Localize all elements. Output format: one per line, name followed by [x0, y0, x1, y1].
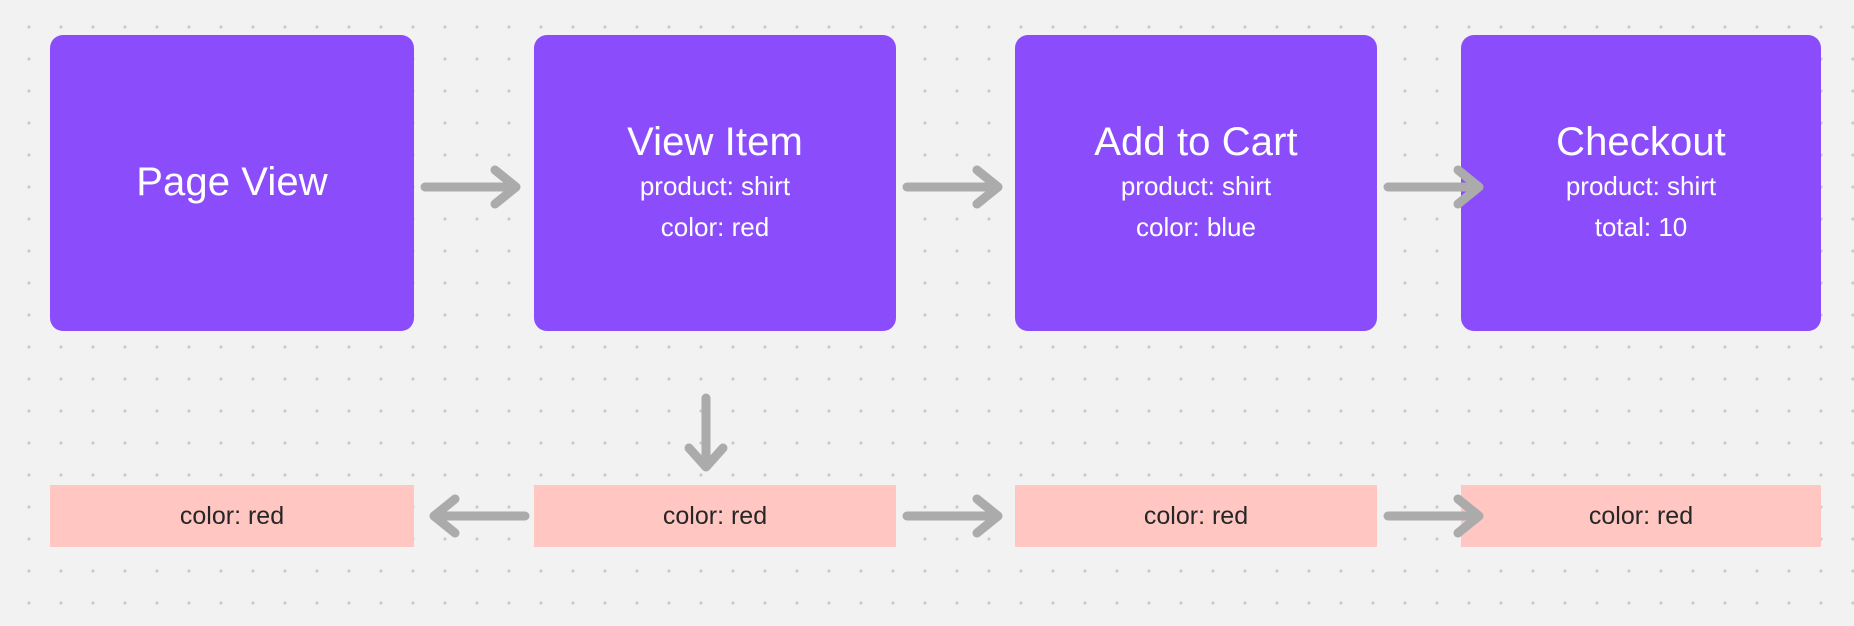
- property-node-label: color: red: [1144, 504, 1248, 529]
- event-node-property: color: blue: [1136, 207, 1256, 248]
- event-node-title: Add to Cart: [1094, 119, 1297, 166]
- event-node-property: product: shirt: [640, 166, 790, 207]
- property-node-label: color: red: [180, 504, 284, 529]
- arrow-right-icon: [903, 494, 1011, 538]
- event-node-view-item[interactable]: View Item product: shirt color: red: [534, 35, 896, 331]
- event-node-property: total: 10: [1595, 207, 1688, 248]
- event-node-property: product: shirt: [1566, 166, 1716, 207]
- event-node-checkout[interactable]: Checkout product: shirt total: 10: [1461, 35, 1821, 331]
- event-node-title: Page View: [136, 159, 327, 206]
- event-node-add-to-cart[interactable]: Add to Cart product: shirt color: blue: [1015, 35, 1377, 331]
- arrow-right-icon: [421, 165, 529, 209]
- arrow-right-icon: [903, 165, 1011, 209]
- property-node[interactable]: color: red: [50, 485, 414, 547]
- event-node-property: color: red: [661, 207, 769, 248]
- property-node-label: color: red: [663, 504, 767, 529]
- property-node[interactable]: color: red: [534, 485, 896, 547]
- property-node-label: color: red: [1589, 504, 1693, 529]
- event-node-title: Checkout: [1556, 119, 1726, 166]
- event-node-page-view[interactable]: Page View: [50, 35, 414, 331]
- property-node[interactable]: color: red: [1461, 485, 1821, 547]
- event-node-title: View Item: [627, 119, 803, 166]
- arrow-down-icon: [684, 394, 728, 478]
- event-node-property: product: shirt: [1121, 166, 1271, 207]
- property-node[interactable]: color: red: [1015, 485, 1377, 547]
- arrow-left-icon: [421, 494, 529, 538]
- diagram-canvas: Page View View Item product: shirt color…: [0, 0, 1854, 626]
